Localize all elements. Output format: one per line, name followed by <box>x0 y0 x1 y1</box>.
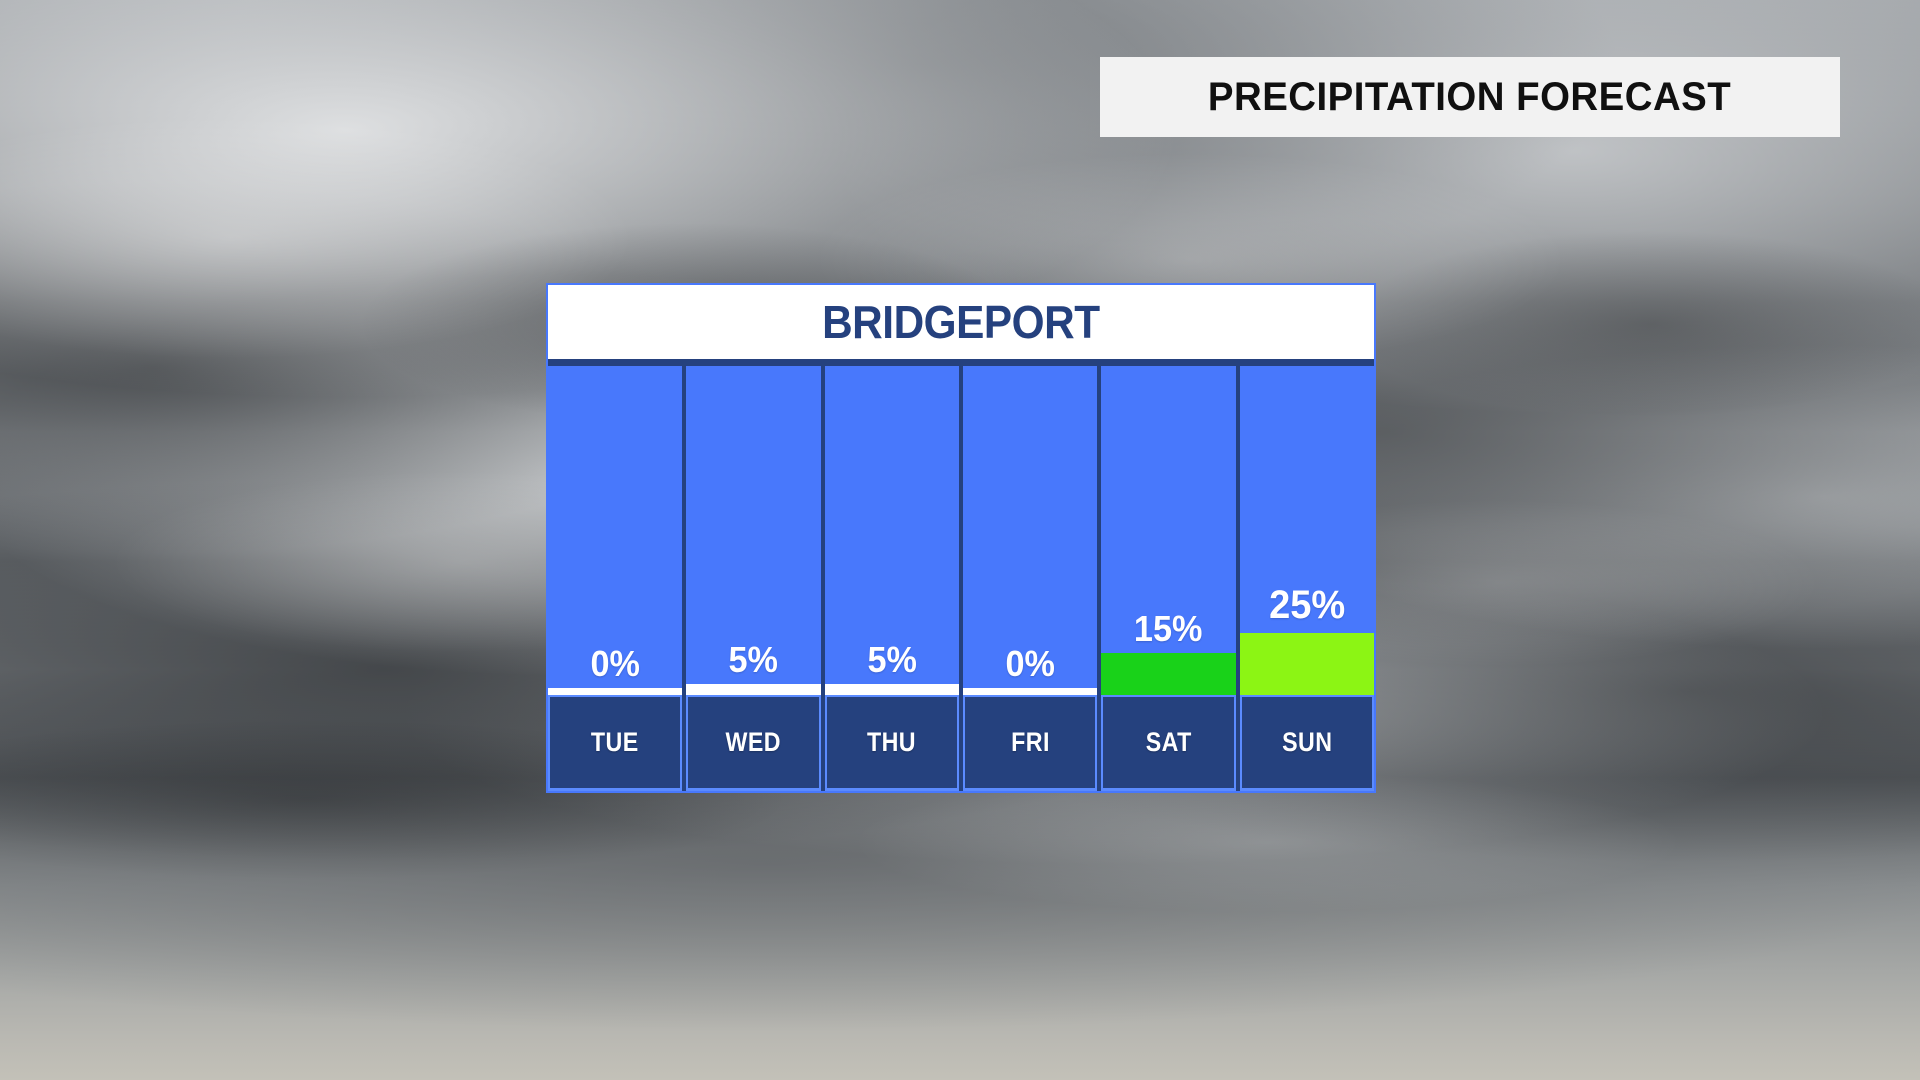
precip-fill-bar <box>1101 653 1235 695</box>
precip-fill-bar <box>1240 633 1374 695</box>
city-name: BRIDGEPORT <box>822 295 1100 349</box>
day-tile: WED <box>686 695 820 791</box>
day-tile: THU <box>825 695 959 791</box>
precip-percent-label: 25% <box>1243 585 1371 633</box>
forecast-column: 5%THU <box>825 366 959 791</box>
day-tile: SAT <box>1101 695 1235 791</box>
banner-title: PRECIPITATION FORECAST <box>1208 75 1731 120</box>
day-label: SUN <box>1282 727 1332 758</box>
day-tile: FRI <box>963 695 1097 791</box>
forecast-panel: BRIDGEPORT 0%TUE5%WED5%THU0%FRI15%SAT25%… <box>546 283 1376 793</box>
precip-percent-label: 5% <box>690 642 818 684</box>
precip-fill-bar <box>548 688 682 695</box>
day-label: FRI <box>1011 727 1050 758</box>
city-title-bar: BRIDGEPORT <box>548 285 1374 359</box>
precip-fill-bar <box>686 684 820 695</box>
precip-percent-label: 0% <box>966 646 1094 688</box>
day-label: WED <box>726 727 781 758</box>
day-label: TUE <box>591 727 639 758</box>
title-divider <box>548 359 1374 366</box>
day-label: SAT <box>1145 727 1191 758</box>
forecast-column: 15%SAT <box>1101 366 1235 791</box>
forecast-column: 0%FRI <box>963 366 1097 791</box>
precip-fill-bar <box>825 684 959 695</box>
precip-fill-bar <box>963 688 1097 695</box>
precip-percent-label: 15% <box>1105 611 1233 653</box>
day-label: THU <box>867 727 916 758</box>
day-tile: SUN <box>1240 695 1374 791</box>
forecast-column: 0%TUE <box>548 366 682 791</box>
forecast-columns: 0%TUE5%WED5%THU0%FRI15%SAT25%SUN <box>548 366 1374 791</box>
forecast-column: 25%SUN <box>1240 366 1374 791</box>
precip-percent-label: 5% <box>828 642 956 684</box>
forecast-column: 5%WED <box>686 366 820 791</box>
weather-graphic: PRECIPITATION FORECAST BRIDGEPORT 0%TUE5… <box>0 0 1920 1080</box>
day-tile: TUE <box>548 695 682 791</box>
header-banner: PRECIPITATION FORECAST <box>1100 57 1840 137</box>
precip-percent-label: 0% <box>551 646 679 688</box>
